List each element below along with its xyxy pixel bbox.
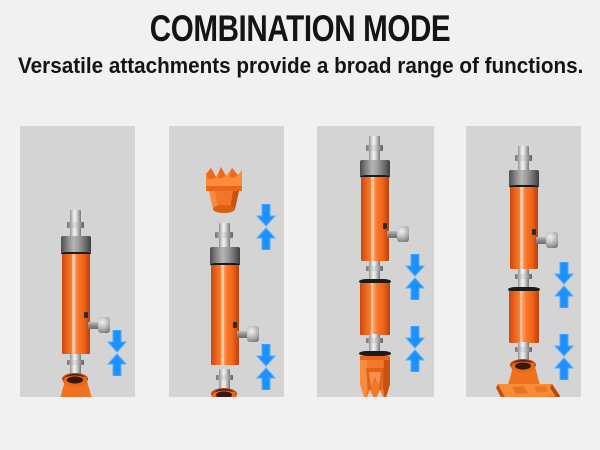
orange-extension <box>360 283 390 335</box>
chrome-pin <box>518 269 529 289</box>
knurled-ring <box>515 155 532 161</box>
cylinder-port <box>84 312 88 318</box>
knurled-ring <box>515 347 532 352</box>
cylinder-port <box>532 229 536 235</box>
knurled-ring <box>216 375 233 380</box>
panel-4 <box>466 126 581 397</box>
orange-extension <box>509 291 539 343</box>
triangular-base-plate <box>42 369 114 397</box>
knurled-ring <box>366 266 383 271</box>
panel-1-stage <box>20 126 135 397</box>
knurled-ring <box>67 222 84 228</box>
up-arrow-icon <box>406 350 424 372</box>
panel-1 <box>20 126 135 397</box>
orange-cylinder <box>211 265 239 365</box>
down-arrow-icon <box>257 344 275 366</box>
cylinder-port <box>383 223 387 229</box>
arrow-pair-lower <box>105 330 129 376</box>
down-arrow-icon <box>108 330 126 352</box>
header: COMBINATION MODE Versatile attachments p… <box>0 0 600 79</box>
side-knob-head <box>546 232 558 248</box>
up-arrow-icon <box>257 228 275 250</box>
panel-4-stage <box>466 126 581 397</box>
panel-row <box>0 126 600 397</box>
orange-cylinder <box>62 254 90 354</box>
knurled-ring <box>67 360 84 365</box>
down-arrow-icon <box>406 326 424 348</box>
arrow-pair-lower <box>254 344 278 390</box>
orange-crown-bit <box>200 166 248 214</box>
product-feature-graphic: COMBINATION MODE Versatile attachments p… <box>0 0 600 450</box>
knurled-ring <box>366 338 383 343</box>
down-arrow-icon <box>257 204 275 226</box>
arrow-pair-lower <box>403 326 427 372</box>
knurled-ring <box>215 232 233 238</box>
panel-2 <box>169 126 284 397</box>
panel-3 <box>317 126 434 397</box>
up-arrow-icon <box>108 354 126 376</box>
arrow-pair-upper <box>254 204 278 250</box>
triangular-base-plate <box>191 384 263 397</box>
side-knob-head <box>247 326 259 342</box>
orange-cylinder <box>510 187 538 269</box>
panel-3-stage <box>317 126 434 397</box>
cylinder-port <box>233 322 237 328</box>
up-arrow-icon <box>406 278 424 300</box>
page-title: COMBINATION MODE <box>60 9 540 49</box>
up-arrow-icon <box>257 368 275 390</box>
arrow-pair-upper <box>552 262 576 308</box>
knurled-ring <box>366 145 383 151</box>
orange-cylinder <box>361 177 389 261</box>
page-subtitle: Versatile attachments provide a broad ra… <box>18 53 582 79</box>
arrow-pair-lower <box>552 334 576 380</box>
panel-2-stage <box>169 126 284 397</box>
down-arrow-icon <box>555 262 573 284</box>
side-knob-head <box>397 226 409 242</box>
down-arrow-icon <box>406 254 424 276</box>
down-arrow-icon <box>555 334 573 356</box>
knurled-ring <box>515 274 532 279</box>
arrow-pair-upper <box>403 254 427 300</box>
chrome-pin <box>369 261 380 281</box>
orange-core-bit <box>358 354 392 397</box>
up-arrow-icon <box>555 286 573 308</box>
up-arrow-icon <box>555 358 573 380</box>
